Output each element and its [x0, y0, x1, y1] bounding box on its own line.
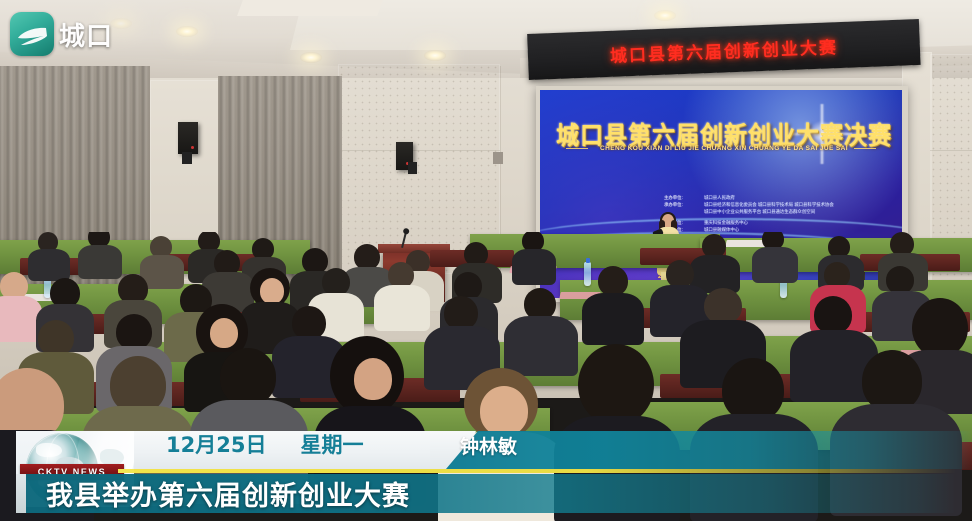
head [210, 318, 238, 348]
ceiling-beam [237, 0, 383, 16]
lower-third: CKTV NEWS 12月25日 星期一 钟林敏 我县举办第六届创新创业大赛 [0, 425, 972, 513]
video-frame: 城口县第六届创新创业大赛 城口县第六届创新创业大赛决赛 CHENG KOU XI… [0, 0, 972, 521]
yellow-rule [134, 469, 956, 473]
torso [752, 247, 798, 283]
wall-seam-3 [930, 150, 972, 151]
date-text: 12月25日 [166, 429, 266, 459]
reporter-name: 钟林敏 [460, 430, 517, 460]
ceiling-light-5 [110, 18, 132, 29]
hair [912, 298, 968, 358]
organizer-row: 主办单位: 城口县人民政府 [664, 194, 894, 201]
head [886, 266, 914, 294]
headline-text: 我县举办第六届创新创业大赛 [46, 474, 410, 513]
head [704, 288, 742, 324]
torso [374, 285, 430, 331]
organizer-value: 城口县经济和信息化委员会 城口县科学技术局 城口县科学技术协会 [704, 201, 834, 208]
headline-bar-edge [16, 474, 26, 513]
head [666, 260, 694, 288]
ceiling-light-1 [176, 26, 198, 37]
wall-seam-2 [338, 150, 500, 151]
torso [78, 245, 122, 279]
torso [512, 249, 556, 285]
organizer-label: 承办单位: [664, 201, 698, 208]
channel-name: 城口 [59, 16, 113, 53]
torso [504, 316, 578, 376]
head [322, 268, 350, 296]
speaker-mount-right [408, 162, 417, 174]
channel-watermark: 城口 [10, 12, 113, 56]
ceiling-light-3 [424, 50, 446, 61]
organizer-label: 主办单位: [664, 194, 698, 201]
date-group: 12月25日 星期一 [166, 429, 363, 459]
wall-bracket-far-right [493, 152, 503, 164]
speaker-led-indicator [191, 146, 194, 149]
head [598, 266, 628, 296]
head [814, 296, 852, 334]
torso [582, 293, 644, 345]
speaker-mount-left [182, 152, 192, 164]
head [220, 348, 276, 406]
head [292, 306, 326, 340]
water-bottle [584, 262, 591, 286]
head [444, 296, 478, 330]
head [354, 358, 392, 400]
head [38, 320, 74, 356]
organizer-value: 城口县人民政府 [704, 194, 735, 201]
head [862, 350, 922, 412]
screen-pinyin: CHENG KOU XIAN DI LIU JIE CHUANG XIN CHU… [552, 145, 896, 152]
reporter-panel [446, 431, 972, 469]
cktv-logo-icon [10, 12, 54, 56]
organizer-row: 承办单位: 城口县经济和信息化委员会 城口县科学技术局 城口县科学技术协会 [664, 201, 894, 208]
wall-speaker-left [178, 122, 198, 154]
torso [28, 249, 70, 281]
hair [578, 344, 654, 426]
ceiling-light-2 [300, 52, 322, 63]
head [116, 314, 152, 350]
ceiling-light-4 [654, 10, 676, 21]
head [260, 278, 284, 304]
head [722, 358, 784, 422]
weekday-text: 星期一 [300, 429, 363, 459]
